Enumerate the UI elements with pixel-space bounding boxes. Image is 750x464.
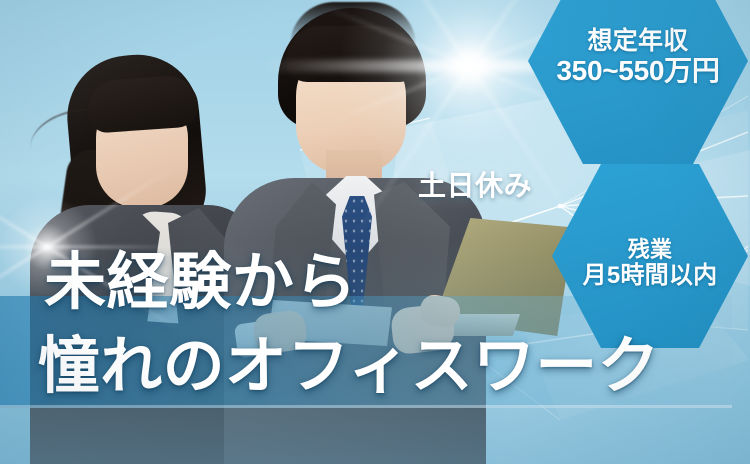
recruitment-banner: 想定年収 350~550万円 残業 月5時間以内 土日休み 未経験から 憧れのオ… bbox=[0, 0, 750, 464]
headline-band-edge bbox=[0, 405, 732, 408]
label-weekends-off: 土日休み bbox=[418, 164, 532, 204]
headline-line-1: 未経験から bbox=[44, 252, 660, 314]
woman-fringe bbox=[86, 74, 199, 134]
badge-salary-line1: 想定年収 bbox=[587, 27, 688, 55]
headline-line-2: 憧れのオフィスワーク bbox=[38, 336, 660, 398]
badge-salary-label: 想定年収 350~550万円 bbox=[556, 27, 719, 94]
badge-salary-line2: 350~550万円 bbox=[556, 55, 719, 86]
headline: 未経験から 憧れのオフィスワーク bbox=[44, 252, 660, 398]
